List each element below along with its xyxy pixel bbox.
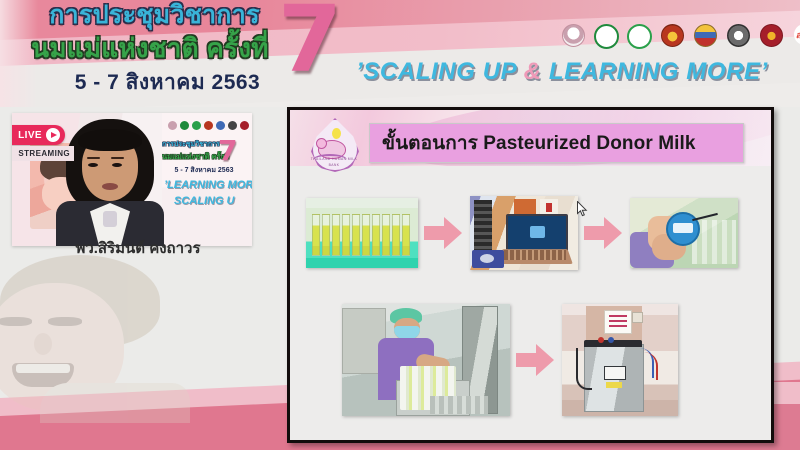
royal-college-logo-icon [659, 24, 685, 54]
video-poster-tagline-line1: ’LEARNING MOR [164, 179, 252, 191]
streaming-badge-label: STREAMING [18, 149, 70, 158]
photo-pasteurizer-machine [562, 304, 678, 416]
nursing-council-logo-icon [725, 24, 751, 54]
background-child-watermark [0, 255, 205, 420]
play-icon [46, 128, 60, 142]
banner-edition-number: 7 [278, 0, 342, 86]
banner-title-line2: นมแม่แห่งชาติ ครั้งที่ [10, 35, 290, 61]
banner-tagline: ’SCALING UP & LEARNING MORE’ [356, 60, 796, 84]
conference-banner: การประชุมวิชาการ นมแม่แห่งชาติ ครั้งที่ … [0, 0, 800, 107]
logo-ring-text: THAILAND HUMAN MILK BANK [307, 156, 361, 173]
slide-title-banner: ขั้นตอนการ Pasteurized Donor Milk [369, 123, 744, 163]
video-speaker-portrait [56, 119, 164, 246]
banner-date-range: 5 - 7 สิงหาคม 2563 [60, 72, 275, 93]
speaker-name-caption: พว.สิริมนต์ คงถาวร [28, 236, 248, 260]
thailand-human-milk-bank-logo-icon: THAILAND HUMAN MILK BANK [305, 116, 363, 174]
live-badge-label: LIVE [18, 130, 42, 141]
video-poster-edition-number: 7 [218, 137, 237, 165]
arrow-right-1-icon [424, 216, 464, 250]
sponsor-logo-row [560, 24, 800, 54]
breastfeeding-foundation-logo-icon [560, 24, 586, 54]
photo-nurse-washing-bottles [342, 304, 510, 416]
red-seal-logo-icon [758, 24, 784, 54]
photo-laptop-workstation [470, 196, 578, 270]
video-poster-tagline-line2: SCALING U [174, 195, 252, 207]
arrow-right-2-icon [584, 216, 624, 250]
live-video-thumbnail[interactable]: การประชุมวิชาการ นมแม่แห่งชาติ ครั้งที่ … [12, 113, 252, 246]
process-row-2 [342, 302, 742, 417]
tagline-part1: ’SCALING UP [356, 58, 524, 85]
live-badge: LIVE [12, 125, 65, 145]
slide-viewer-stage: การประชุมวิชาการ นมแม่แห่งชาติ ครั้งที่ … [0, 0, 800, 450]
mouse-pointer-icon [577, 201, 588, 217]
video-poster-logo-strip [168, 121, 252, 130]
royal-emblem-logo-icon [692, 24, 718, 54]
arrow-right-3-icon [516, 343, 556, 377]
streaming-badge: STREAMING [12, 146, 74, 161]
process-row-1 [306, 198, 761, 268]
slide-title-text: ขั้นตอนการ Pasteurized Donor Milk [382, 128, 696, 158]
thaihealth-logo-icon [791, 24, 800, 54]
ministry-public-health-logo-icon [593, 24, 619, 54]
department-health-logo-icon [626, 24, 652, 54]
banner-title-line1: การประชุมวิชาการ [22, 3, 287, 28]
photo-hand-thermometer [630, 198, 738, 268]
tagline-part2: LEARNING MORE’ [542, 58, 768, 85]
tagline-ampersand: & [524, 58, 542, 85]
video-poster-date-range: 5 - 7 สิงหาคม 2563 [164, 165, 244, 176]
presentation-slide: THAILAND HUMAN MILK BANK ขั้นตอนการ Past… [287, 107, 774, 443]
photo-milk-bottles-rack [306, 198, 418, 268]
